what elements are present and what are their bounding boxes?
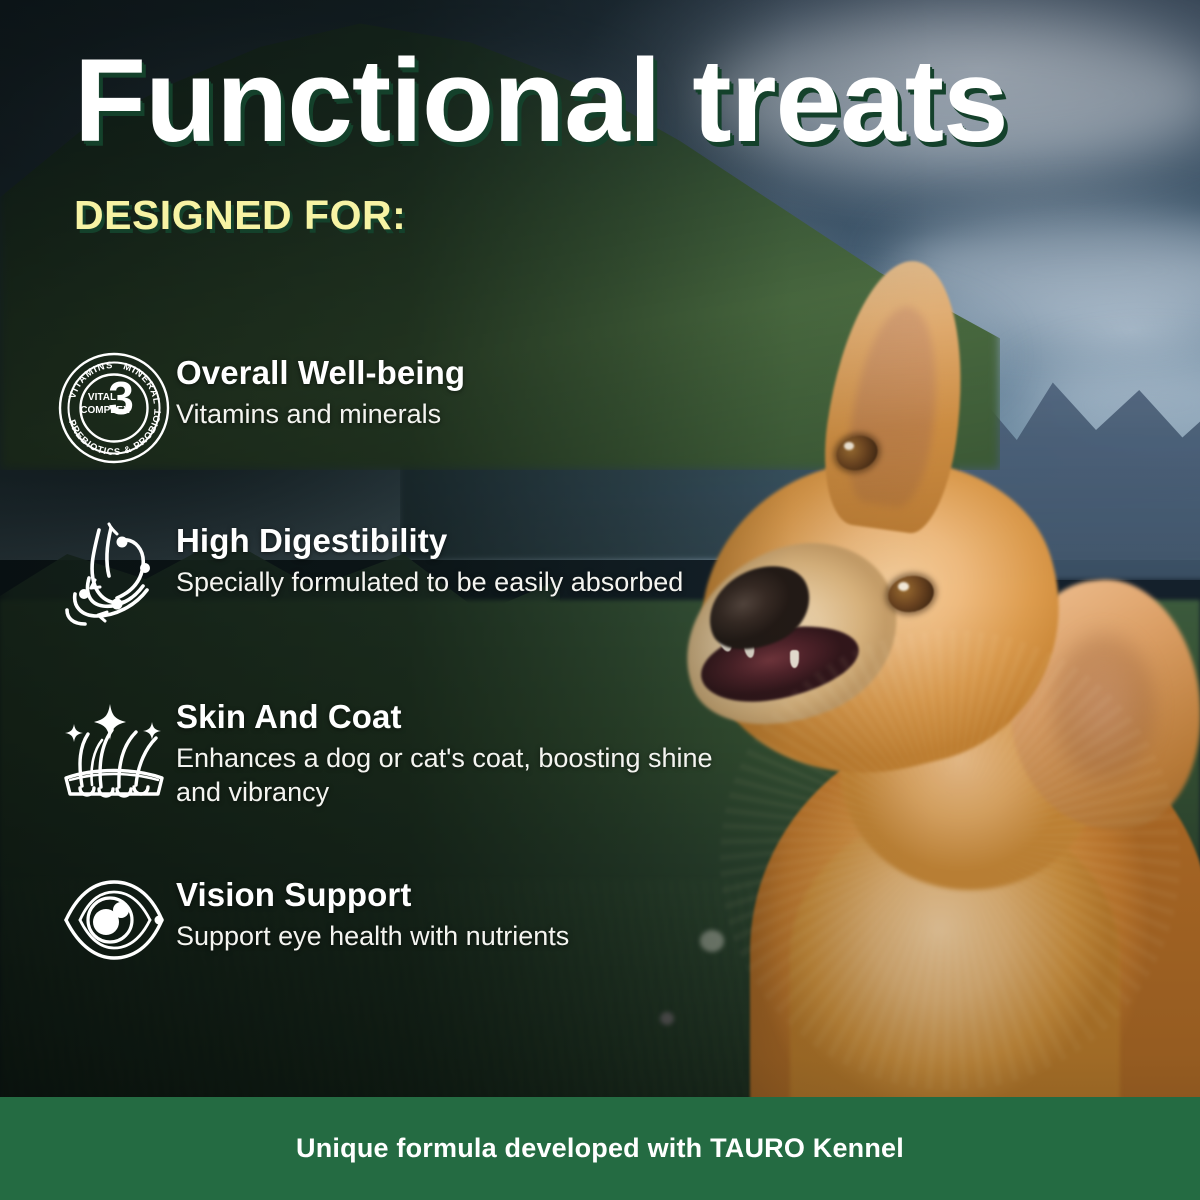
poster: Functional treats DESIGNED FOR: <box>0 0 1200 1200</box>
svg-text:VITAL: VITAL <box>88 392 116 403</box>
eye-vision-icon <box>52 870 176 980</box>
feature-description: Vitamins and minerals <box>176 398 465 432</box>
feature-title: Vision Support <box>176 876 569 915</box>
designed-for-label: DESIGNED FOR: <box>74 192 406 239</box>
feature-text: High Digestibility Specially formulated … <box>176 516 683 600</box>
vital-complex-badge-icon: VITAMINS MINERALS PREBIOTICS & PROBIOTIC… <box>52 348 176 458</box>
footer-text: Unique formula developed with TAURO Kenn… <box>296 1133 904 1164</box>
feature-item-skin-and-coat: Skin And Coat Enhances a dog or cat's co… <box>52 692 782 870</box>
feature-title: Overall Well-being <box>176 354 465 393</box>
feature-text: Vision Support Support eye health with n… <box>176 870 569 954</box>
feature-description: Enhances a dog or cat's coat, boosting s… <box>176 742 736 810</box>
feature-description: Support eye health with nutrients <box>176 920 569 954</box>
feature-description: Specially formulated to be easily absorb… <box>176 566 683 600</box>
page-title: Functional treats <box>74 38 1008 165</box>
content-layer: Functional treats DESIGNED FOR: <box>0 0 1200 1200</box>
feature-item-overall-well-being: VITAMINS MINERALS PREBIOTICS & PROBIOTIC… <box>52 348 782 516</box>
feature-item-vision-support: Vision Support Support eye health with n… <box>52 870 782 990</box>
svg-text:COMPLEX: COMPLEX <box>80 405 130 416</box>
stomach-digestion-icon <box>52 516 176 626</box>
footer-banner: Unique formula developed with TAURO Kenn… <box>0 1097 1200 1200</box>
feature-item-high-digestibility: High Digestibility Specially formulated … <box>52 516 782 692</box>
feature-text: Overall Well-being Vitamins and minerals <box>176 348 465 432</box>
skin-and-coat-follicles-icon <box>52 692 176 802</box>
feature-title: Skin And Coat <box>176 698 736 737</box>
feature-title: High Digestibility <box>176 522 683 561</box>
feature-text: Skin And Coat Enhances a dog or cat's co… <box>176 692 736 809</box>
feature-list: VITAMINS MINERALS PREBIOTICS & PROBIOTIC… <box>52 348 782 990</box>
